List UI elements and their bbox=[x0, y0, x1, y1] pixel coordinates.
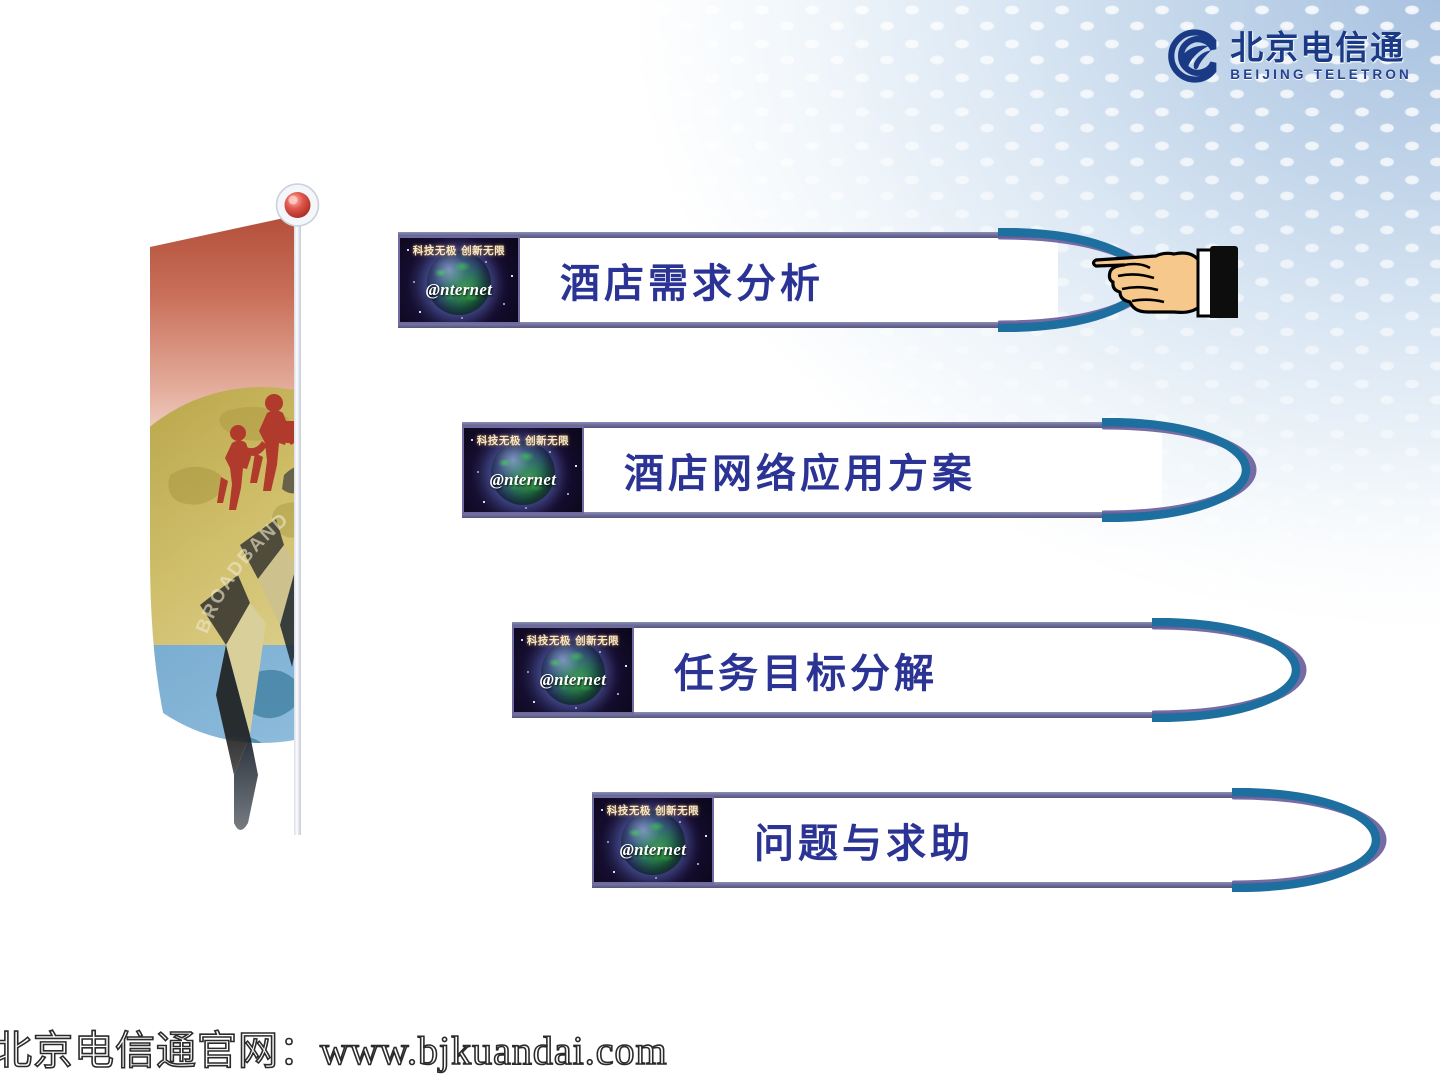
brand-text: 北京电信通 BEIJING TELETRON bbox=[1230, 31, 1412, 82]
icon-caption-cn: 科技无极 创新无限 bbox=[464, 433, 582, 448]
menu-item-1-label: 酒店需求分析 bbox=[560, 232, 824, 328]
icon-caption-cn: 科技无极 创新无限 bbox=[514, 633, 632, 648]
menu-item-4-label: 问题与求助 bbox=[754, 792, 974, 888]
brand-name-en: BEIJING TELETRON bbox=[1230, 68, 1412, 82]
internet-globe-icon: 科技无极 创新无限 @nternet bbox=[592, 796, 714, 884]
footer-url-text: 北京电信通官网：www.bjkuandai.com bbox=[0, 1018, 668, 1076]
menu-item-4-arc bbox=[1232, 788, 1402, 892]
menu-item-4[interactable]: 科技无极 创新无限 @nternet 问题与求助 bbox=[592, 792, 1392, 888]
icon-caption-en: @nternet bbox=[464, 470, 582, 490]
icon-caption-cn: 科技无极 创新无限 bbox=[400, 243, 518, 258]
menu-item-3[interactable]: 科技无极 创新无限 @nternet 任务目标分解 bbox=[512, 622, 1312, 718]
internet-globe-icon: 科技无极 创新无限 @nternet bbox=[512, 626, 634, 714]
brand-logo: 北京电信通 BEIJING TELETRON bbox=[1164, 28, 1412, 84]
icon-caption-en: @nternet bbox=[514, 670, 632, 690]
broadband-flag-artwork: BROADBAND bbox=[130, 175, 380, 935]
menu-item-2-arc bbox=[1102, 418, 1272, 522]
menu-item-2[interactable]: 科技无极 创新无限 @nternet 酒店网络应用方案 bbox=[462, 422, 1262, 518]
slide-canvas: 北京电信通 BEIJING TELETRON bbox=[0, 0, 1440, 1080]
pointing-hand-icon bbox=[1088, 232, 1248, 318]
icon-caption-en: @nternet bbox=[594, 840, 712, 860]
internet-globe-icon: 科技无极 创新无限 @nternet bbox=[398, 236, 520, 324]
internet-globe-icon: 科技无极 创新无限 @nternet bbox=[462, 426, 584, 514]
menu-item-3-label: 任务目标分解 bbox=[674, 622, 938, 718]
teletron-e-logo-icon bbox=[1164, 28, 1220, 84]
brand-name-cn: 北京电信通 bbox=[1230, 31, 1412, 64]
menu-item-3-arc bbox=[1152, 618, 1322, 722]
icon-caption-en: @nternet bbox=[400, 280, 518, 300]
menu-item-1[interactable]: 科技无极 创新无限 @nternet 酒店需求分析 bbox=[398, 232, 1158, 328]
menu-item-2-label: 酒店网络应用方案 bbox=[624, 422, 976, 518]
icon-caption-cn: 科技无极 创新无限 bbox=[594, 803, 712, 818]
